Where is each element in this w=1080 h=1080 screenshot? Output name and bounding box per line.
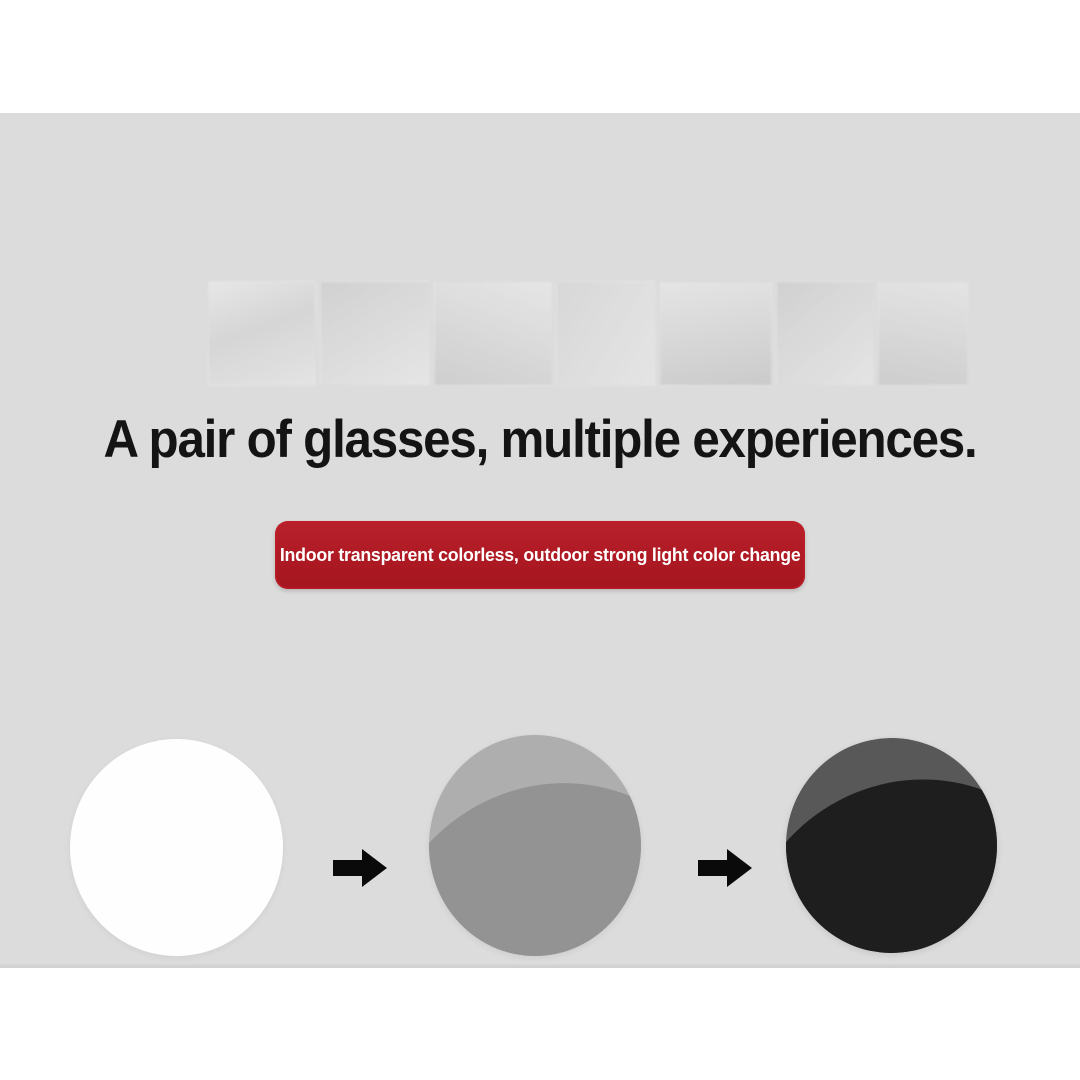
arrow-right-icon xyxy=(694,846,756,890)
ghost-cell xyxy=(776,281,874,386)
ghost-cell xyxy=(434,281,552,386)
tagline-banner-text: Indoor transparent colorless, outdoor st… xyxy=(280,544,801,566)
lens-circle-cloudy-day xyxy=(429,735,641,956)
lens-circle-sunny xyxy=(786,738,997,953)
tagline-banner-body: Indoor transparent colorless, outdoor st… xyxy=(275,521,805,589)
lens-circle-indoor xyxy=(70,739,283,956)
background-photo-ghost xyxy=(208,281,968,386)
lens-shade xyxy=(786,738,997,953)
content-panel: A pair of glasses, multiple experiences.… xyxy=(0,113,1080,968)
tagline-banner: Indoor transparent colorless, outdoor st… xyxy=(275,521,805,589)
lens-shade xyxy=(429,735,641,956)
ghost-cell xyxy=(556,281,656,386)
ghost-cell xyxy=(208,281,316,386)
page-title: A pair of glasses, multiple experiences. xyxy=(38,411,1042,469)
ghost-cell xyxy=(878,281,968,386)
ghost-cell xyxy=(660,281,772,386)
lens-stage-row: Indoor Cloudy day xyxy=(0,728,1080,968)
arrow-right-icon xyxy=(329,846,391,890)
product-banner: A pair of glasses, multiple experiences.… xyxy=(0,0,1080,1080)
ghost-cell xyxy=(320,281,430,386)
